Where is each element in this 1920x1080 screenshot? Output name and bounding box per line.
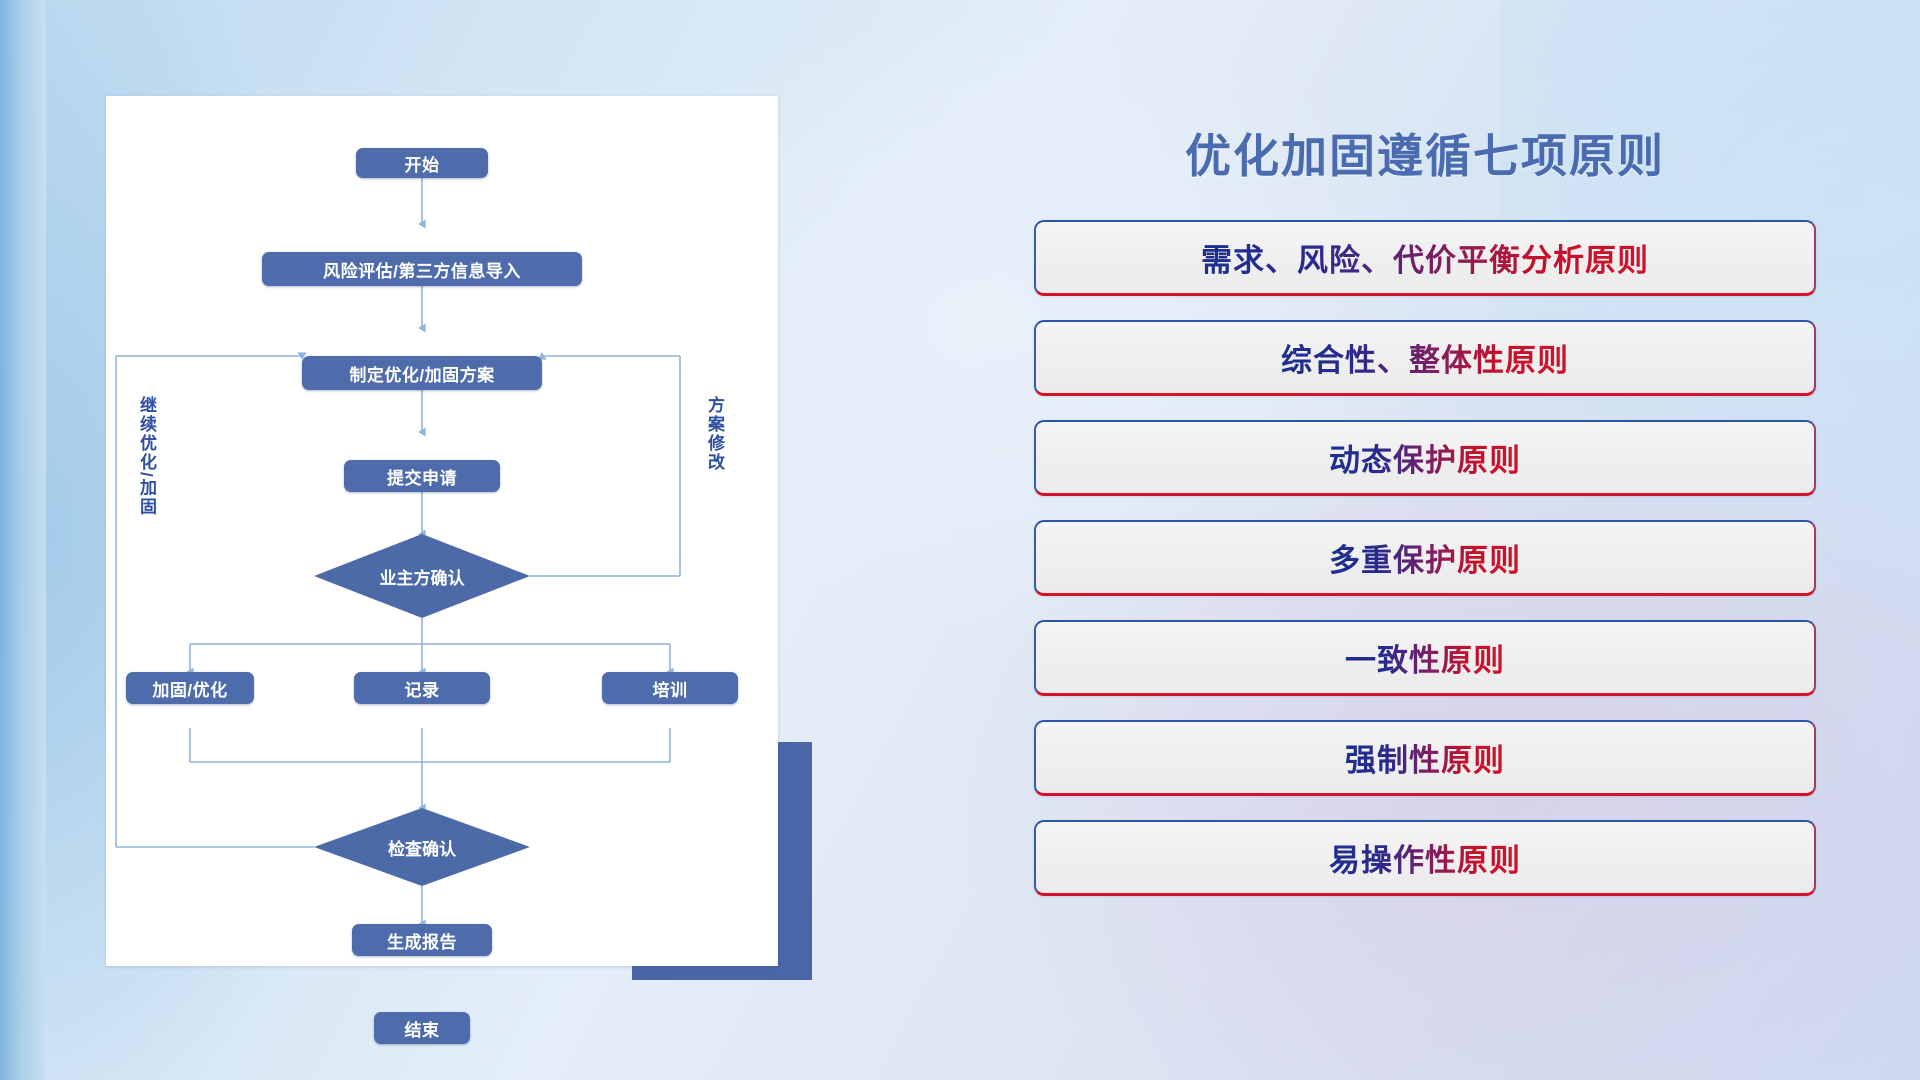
principle-card-5-label: 一致性原则 bbox=[1345, 635, 1505, 680]
principle-card-7[interactable]: 易操作性原则 bbox=[1034, 820, 1816, 896]
principles-panel: 优化加固遵循七项原则 需求、风险、代价平衡分析原则 综合性、整体性原则 动态保护… bbox=[1010, 96, 1840, 996]
principles-title: 优化加固遵循七项原则 bbox=[1010, 120, 1840, 186]
flowchart-canvas: 开始 风险评估/第三方信息导入 制定优化/加固方案 提交申请 业主方确认 加固/… bbox=[106, 96, 778, 966]
flow-node-submit-label: 提交申请 bbox=[387, 464, 457, 489]
flow-edge-label-plan-revision: 方案修改 bbox=[706, 396, 723, 472]
flow-node-risk-assessment-label: 风险评估/第三方信息导入 bbox=[323, 257, 521, 282]
flow-node-start[interactable]: 开始 bbox=[356, 148, 488, 178]
flow-node-plan[interactable]: 制定优化/加固方案 bbox=[302, 356, 542, 390]
principle-card-6[interactable]: 强制性原则 bbox=[1034, 720, 1816, 796]
flow-edge-label-continue-optimize: 继续优化/加固 bbox=[138, 396, 155, 517]
flow-node-report-label: 生成报告 bbox=[387, 928, 457, 953]
flow-node-training[interactable]: 培训 bbox=[602, 672, 738, 704]
flow-node-report[interactable]: 生成报告 bbox=[352, 924, 492, 956]
flow-node-plan-label: 制定优化/加固方案 bbox=[349, 361, 494, 386]
flow-decision-check-confirm[interactable]: 检查确认 bbox=[314, 808, 530, 886]
principle-card-4[interactable]: 多重保护原则 bbox=[1034, 520, 1816, 596]
flow-decision-owner-confirm[interactable]: 业主方确认 bbox=[314, 534, 530, 618]
flowchart-card: 开始 风险评估/第三方信息导入 制定优化/加固方案 提交申请 业主方确认 加固/… bbox=[106, 96, 778, 966]
flow-node-reinforce[interactable]: 加固/优化 bbox=[126, 672, 254, 704]
principle-card-3-label: 动态保护原则 bbox=[1329, 435, 1521, 480]
flow-decision-check-confirm-label: 检查确认 bbox=[388, 835, 456, 860]
flow-node-end-label: 结束 bbox=[405, 1016, 440, 1041]
principle-card-5[interactable]: 一致性原则 bbox=[1034, 620, 1816, 696]
principle-card-2[interactable]: 综合性、整体性原则 bbox=[1034, 320, 1816, 396]
flow-node-start-label: 开始 bbox=[405, 151, 440, 176]
flow-node-training-label: 培训 bbox=[653, 676, 688, 701]
principle-card-1[interactable]: 需求、风险、代价平衡分析原则 bbox=[1034, 220, 1816, 296]
principle-card-2-label: 综合性、整体性原则 bbox=[1281, 335, 1569, 380]
flow-decision-owner-confirm-label: 业主方确认 bbox=[380, 564, 465, 589]
flow-node-reinforce-label: 加固/优化 bbox=[152, 676, 227, 701]
flow-node-record-label: 记录 bbox=[405, 676, 440, 701]
flow-node-record[interactable]: 记录 bbox=[354, 672, 490, 704]
principle-card-3[interactable]: 动态保护原则 bbox=[1034, 420, 1816, 496]
principle-card-6-label: 强制性原则 bbox=[1345, 735, 1505, 780]
flow-node-risk-assessment[interactable]: 风险评估/第三方信息导入 bbox=[262, 252, 582, 286]
principle-card-7-label: 易操作性原则 bbox=[1329, 835, 1521, 880]
principle-card-1-label: 需求、风险、代价平衡分析原则 bbox=[1201, 235, 1649, 280]
slide-root: 开始 风险评估/第三方信息导入 制定优化/加固方案 提交申请 业主方确认 加固/… bbox=[0, 0, 1920, 1080]
flow-node-submit[interactable]: 提交申请 bbox=[344, 460, 500, 492]
flow-node-end[interactable]: 结束 bbox=[374, 1012, 470, 1044]
principle-card-4-label: 多重保护原则 bbox=[1329, 535, 1521, 580]
